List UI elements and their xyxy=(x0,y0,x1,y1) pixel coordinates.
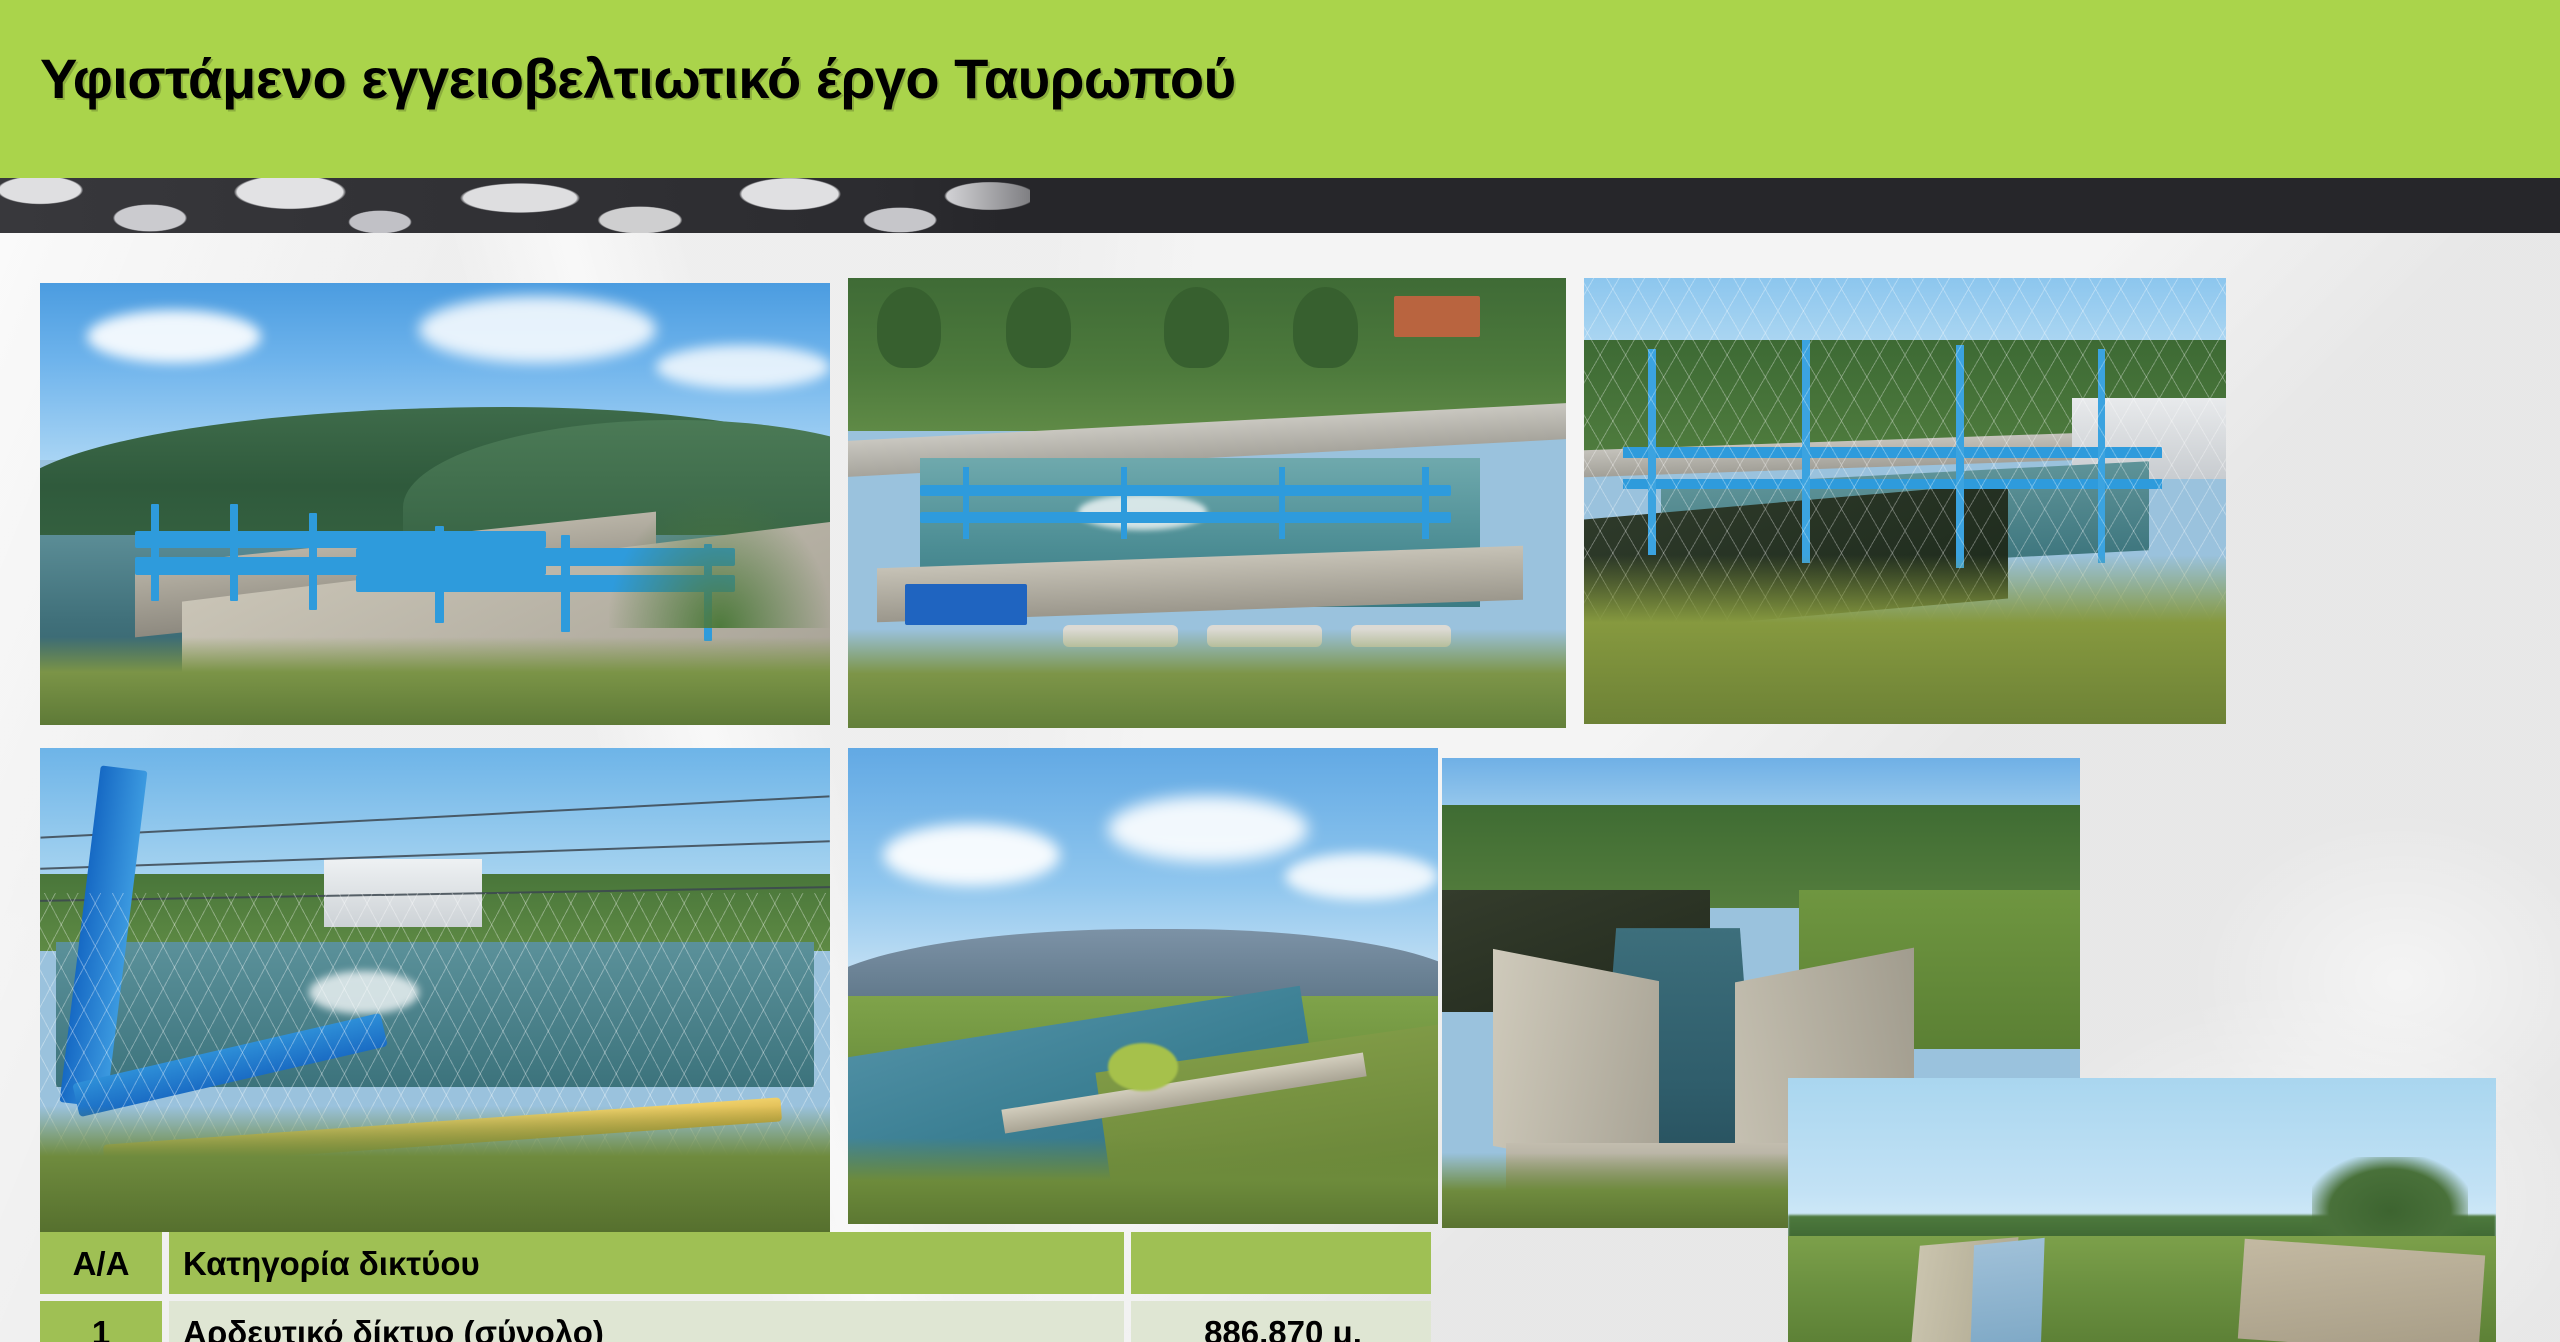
table-row: 1 Αρδευτικό δίκτυο (σύνολο) 886.870 μ. xyxy=(40,1301,1440,1342)
railing-post xyxy=(230,504,239,601)
railing-post xyxy=(435,526,444,623)
grass-foreground xyxy=(40,1106,830,1232)
railing-post xyxy=(1121,467,1127,539)
tree xyxy=(2312,1157,2468,1247)
railing-post xyxy=(1279,467,1285,539)
photo-reservoir-intake-blue-railing xyxy=(40,283,830,725)
table-header-aa: Α/Α xyxy=(40,1232,162,1294)
grass-foreground xyxy=(848,629,1566,728)
grass-foreground xyxy=(848,1138,1438,1224)
grass-foreground xyxy=(1584,555,2226,724)
railing-post xyxy=(561,535,570,632)
railing-post xyxy=(151,504,160,601)
house-roof xyxy=(1394,296,1480,337)
table-cell-category: Αρδευτικό δίκτυο (σύνολο) xyxy=(169,1301,1124,1342)
page-title: Υφιστάμενο εγγειοβελτιωτικό έργο Ταυρωπο… xyxy=(40,46,1236,111)
tree xyxy=(1006,287,1071,368)
dirt-track xyxy=(2238,1239,2485,1342)
railing-post xyxy=(309,513,318,610)
network-table: Α/Α Κατηγορία δικτύου 1 Αρδευτικό δίκτυο… xyxy=(40,1232,1440,1342)
tree xyxy=(1164,287,1229,368)
table-header-row: Α/Α Κατηγορία δικτύου xyxy=(40,1232,1440,1294)
cloud xyxy=(656,345,830,389)
photo-pump-station-basin xyxy=(848,278,1566,728)
slide-root: Υφιστάμενο εγγειοβελτιωτικό έργο Ταυρωπο… xyxy=(0,0,2560,1342)
bush xyxy=(1108,1043,1179,1091)
photo-fenced-canal-chainlink xyxy=(1584,278,2226,724)
photo-main-canal-mountains xyxy=(848,748,1438,1224)
photo-barbed-wire-fence-basin xyxy=(40,748,830,1232)
cloud xyxy=(87,310,261,363)
table-header-value xyxy=(1131,1232,1431,1294)
vegetation xyxy=(609,495,830,628)
tree xyxy=(877,287,942,368)
blue-equipment-box xyxy=(905,584,1027,625)
blue-railing xyxy=(920,485,1451,496)
blue-railing xyxy=(135,531,546,549)
table-header-category: Κατηγορία δικτύου xyxy=(169,1232,1124,1294)
cloud xyxy=(1108,796,1309,863)
blue-railing xyxy=(920,512,1451,523)
table-cell-value: 886.870 μ. xyxy=(1131,1301,1431,1342)
cloud xyxy=(419,296,656,362)
decorative-dark-band xyxy=(0,178,2560,233)
irrigation-ditch xyxy=(1970,1237,2044,1342)
cloud xyxy=(1285,853,1438,901)
camo-pattern xyxy=(0,178,1030,233)
cloud xyxy=(883,824,1060,886)
photo-field-ditch-overlap xyxy=(1788,1078,2496,1342)
grass-foreground xyxy=(40,637,830,725)
camo-fade xyxy=(940,178,1120,233)
railing-post xyxy=(963,467,969,539)
title-banner: Υφιστάμενο εγγειοβελτιωτικό έργο Ταυρωπο… xyxy=(0,0,2560,178)
railing-post xyxy=(1422,467,1428,539)
tree xyxy=(1293,287,1358,368)
table-cell-aa: 1 xyxy=(40,1301,162,1342)
